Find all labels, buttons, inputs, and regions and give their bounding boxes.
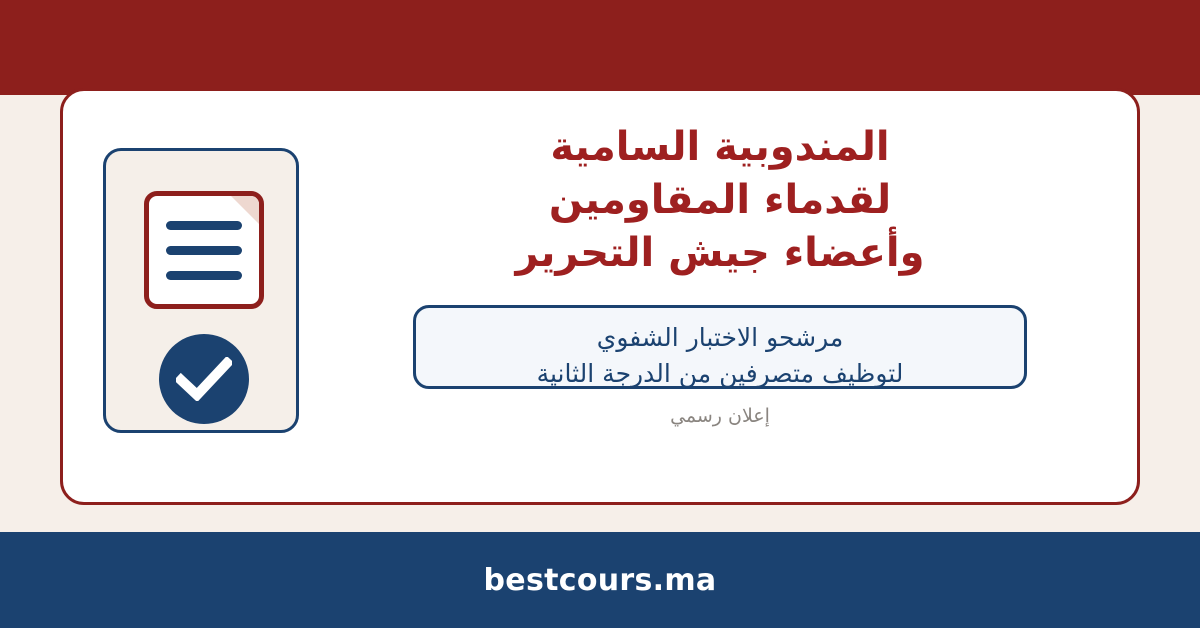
subtitle-line-1: مرشحو الاختبار الشفوي <box>597 320 844 356</box>
check-circle-icon <box>159 334 249 424</box>
page-title: المندوبية السامية لقدماء المقاومين وأعضا… <box>516 121 925 281</box>
site-brand-wordmark: bestcours.ma <box>0 532 1200 628</box>
page-title-line-3: وأعضاء جيش التحرير <box>516 227 925 280</box>
document-verified-illustration <box>103 148 299 433</box>
top-red-band <box>0 0 1200 95</box>
document-text-line <box>166 246 242 255</box>
document-text-line <box>166 271 242 280</box>
page-title-line-2: لقدماء المقاومين <box>516 174 925 227</box>
page-fold-corner-icon <box>230 195 260 225</box>
subtitle-line-2: لتوظيف متصرفين من الدرجة الثانية <box>537 356 904 389</box>
document-icon <box>144 191 264 309</box>
page-title-line-1: المندوبية السامية <box>516 121 925 174</box>
announcement-card: المندوبية السامية لقدماء المقاومين وأعضا… <box>60 88 1140 505</box>
subtitle-box: مرشحو الاختبار الشفوي لتوظيف متصرفين من … <box>413 305 1027 389</box>
card-content: المندوبية السامية لقدماء المقاومين وأعضا… <box>343 121 1097 490</box>
official-announcement-caption: إعلان رسمي <box>670 405 770 427</box>
